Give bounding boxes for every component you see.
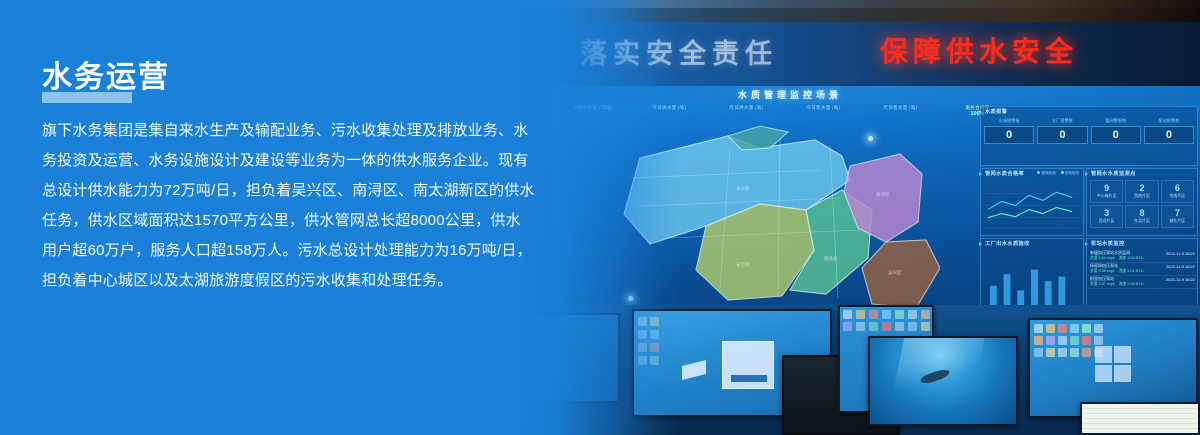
chevron-right-icon	[979, 172, 982, 176]
app-icon[interactable]	[908, 310, 917, 319]
alarm-kpi: 管网警报数 0	[1091, 118, 1141, 144]
rate-chart-card: 管网水质合格率 现场检测 实验检测	[980, 168, 1084, 236]
map-marker	[868, 136, 873, 141]
zone-cell: 6 东南片区	[1161, 180, 1194, 203]
app-icon[interactable]	[895, 322, 904, 331]
zone-value: 9	[1091, 183, 1122, 193]
kpi-label: 管网警报数	[1091, 118, 1141, 124]
alarm-kpi: 水源地警报 0	[984, 118, 1034, 144]
app-icon[interactable]	[1094, 324, 1103, 333]
page-title: 水务运营	[42, 52, 170, 96]
card-header: 水质报警	[985, 108, 1007, 115]
underwater-wallpaper	[870, 338, 1016, 424]
alarm-kpi: 泵站报警数 0	[1144, 118, 1194, 144]
kpi-value: 0	[1144, 126, 1194, 144]
stat-label: 昨日供水量 (吨)	[710, 105, 783, 111]
paragraph-line: 任务，供水区域面积达1570平方公里，供水管网总长超8000公里，供水	[42, 206, 587, 236]
app-icon[interactable]	[1034, 336, 1043, 345]
rate-line-chart	[984, 181, 1080, 232]
log-row: 杨家埠加压泵站 余氯 0.58 mg/L 浊度 1.01 NTU 2022-11…	[1087, 263, 1197, 276]
app-icon[interactable]	[1058, 324, 1067, 333]
app-icon[interactable]	[895, 310, 904, 319]
app-icon[interactable]	[869, 322, 878, 331]
card-header: 泵站水质监控	[1091, 240, 1125, 247]
zone-cell: 7 城东片区	[1161, 205, 1194, 228]
kpi-value: 0	[1037, 126, 1087, 144]
app-icon[interactable]	[1070, 336, 1079, 345]
app-icon[interactable]	[1082, 336, 1091, 345]
alarm-kpi-grid: 水源地警报 0 水厂报警数 0 管网警报数 0	[984, 118, 1194, 144]
log-time: 2022-11-9 18:22	[1166, 277, 1195, 282]
chart-legend: 现场检测 实验检测	[1037, 171, 1079, 176]
zone-value: 3	[1091, 208, 1122, 218]
zone-label: 中心城片区	[1091, 193, 1122, 199]
zone-label: 城东片区	[1162, 218, 1193, 224]
app-icon[interactable]	[1034, 348, 1043, 357]
chevron-right-icon	[979, 242, 982, 246]
spreadsheet-monitor	[1080, 402, 1200, 435]
legend-item: 现场检测	[1037, 171, 1055, 176]
app-icon[interactable]	[921, 322, 930, 331]
map-label: 安吉县	[736, 261, 750, 268]
zone-grid: 9 中心城片区 2 西南片区 6 东南片区	[1090, 180, 1194, 228]
chevron-right-icon	[1085, 172, 1088, 176]
alarm-kpi: 水厂报警数 0	[1037, 118, 1087, 144]
log-time: 2022-11-9 18:22	[1166, 251, 1195, 256]
zone-cell: 3 西北片区	[1090, 205, 1123, 228]
light-beam	[894, 338, 985, 390]
stat-item: 昨日供水量 (吨)	[710, 105, 783, 111]
zone-value: 7	[1162, 208, 1193, 218]
alarm-card: 水质报警 水源地警报 0 水厂报警数 0	[980, 106, 1198, 166]
kpi-label: 水源地警报	[984, 118, 1034, 124]
paragraph-line: 担负着中心城区以及太湖旅游度假区的污水收集和处理任务。	[42, 266, 587, 296]
map-label: 长兴县	[736, 185, 750, 192]
slogan-right: 保障供水安全	[880, 30, 1078, 70]
app-icon[interactable]	[1034, 324, 1043, 333]
app-icon[interactable]	[1082, 348, 1091, 357]
log-row: 新塘加压泵站水质监测 余氯 0.64 mg/L 浊度 1.04 NTU 2022…	[1087, 250, 1197, 263]
paragraph-line: 用户超60万户，服务人口超158万人。污水总设计处理能力为16万吨/日，	[42, 236, 587, 266]
app-icon[interactable]	[1082, 324, 1091, 333]
kpi-label: 水厂报警数	[1037, 118, 1087, 124]
app-icon[interactable]	[882, 322, 891, 331]
app-icon[interactable]	[1046, 336, 1055, 345]
monitor-point-card: 管网水水质监测点 9 中心城片区 2 西南片区	[1086, 168, 1198, 236]
dialog-window[interactable]	[722, 341, 774, 389]
app-icon[interactable]	[1046, 324, 1055, 333]
log-time: 2022-11-9 18:22	[1166, 264, 1195, 269]
app-icon[interactable]	[1058, 336, 1067, 345]
app-icon[interactable]	[843, 310, 852, 319]
kpi-value: 0	[984, 126, 1034, 144]
desktop-monitor-diver	[868, 336, 1018, 426]
text-content: 水务运营 旗下水务集团是集自来水生产及输配业务、污水收集处理及排放业务、水 务投…	[0, 0, 620, 435]
app-icon[interactable]	[856, 310, 865, 319]
stat-label: 昨日售水量 (吨)	[864, 105, 937, 111]
stat-item: 今日售水量 (吨)	[787, 105, 860, 111]
hero-banner: 落实安全责任 保障供水安全 水质管理监控场景 年供水总量 (万吨) 今日供水量 …	[0, 0, 1200, 435]
title-underline	[42, 92, 132, 103]
kpi-label: 泵站报警数	[1144, 118, 1194, 124]
card-header: 管网水质合格率	[985, 170, 1024, 177]
app-icon[interactable]	[856, 322, 865, 331]
dialog-button[interactable]	[731, 375, 767, 382]
zone-cell: 8 东北片区	[1125, 205, 1158, 228]
app-icon[interactable]	[921, 310, 930, 319]
zone-value: 8	[1126, 208, 1157, 218]
app-icon[interactable]	[1070, 324, 1079, 333]
zone-label: 东北片区	[1126, 218, 1157, 224]
kpi-value: 0	[1091, 126, 1141, 144]
chevron-right-icon	[979, 110, 982, 114]
app-icon[interactable]	[1094, 336, 1103, 345]
map-label: 吴兴区	[888, 269, 902, 276]
paragraph-line: 务投资及运营、水务设施设计及建设等业务为一体的供水服务企业。现有	[42, 146, 587, 176]
map-label: 德清县	[824, 255, 838, 262]
zone-cell: 9 中心城片区	[1090, 180, 1123, 203]
windows-logo-icon	[1095, 346, 1131, 382]
app-icon[interactable]	[882, 310, 891, 319]
zone-label: 西北片区	[1091, 218, 1122, 224]
stat-label: 今日售水量 (吨)	[787, 105, 860, 111]
description-paragraph: 旗下水务集团是集自来水生产及输配业务、污水收集处理及排放业务、水 务投资及运营、…	[42, 116, 587, 296]
legend-item: 实验检测	[1061, 171, 1079, 176]
log-metrics: 余氯 0.57 mg/L 浊度 0.98 NTU	[1090, 282, 1143, 287]
stat-item: 昨日售水量 (吨)	[864, 105, 937, 111]
desktop-icon-grid	[1034, 324, 1104, 357]
app-icon[interactable]	[1046, 348, 1055, 357]
zone-cell: 2 西南片区	[1125, 180, 1158, 203]
card-header: 工厂出水水质验收	[985, 240, 1030, 247]
chevron-right-icon	[1085, 242, 1088, 246]
app-icon[interactable]	[843, 322, 852, 331]
zone-value: 6	[1162, 183, 1193, 193]
zone-label: 西南片区	[1126, 193, 1157, 199]
app-icon[interactable]	[869, 310, 878, 319]
map-label: 南浔区	[876, 191, 890, 198]
log-metrics: 余氯 0.64 mg/L 浊度 1.04 NTU	[1090, 256, 1143, 261]
app-icon[interactable]	[1058, 348, 1067, 357]
card-header: 管网水水质监测点	[1091, 170, 1136, 177]
app-icon[interactable]	[1070, 348, 1079, 357]
zone-value: 2	[1126, 183, 1157, 193]
paragraph-line: 总设计供水能力为72万吨/日，担负着吴兴区、南浔区、南太湖新区的供水	[42, 176, 587, 206]
desktop-icon-grid	[843, 310, 932, 331]
paragraph-line: 旗下水务集团是集自来水生产及输配业务、污水收集处理及排放业务、水	[42, 116, 587, 146]
log-metrics: 余氯 0.58 mg/L 浊度 1.01 NTU	[1090, 269, 1143, 274]
zone-label: 东南片区	[1162, 193, 1193, 199]
log-row: 织里加压泵站 余氯 0.57 mg/L 浊度 0.98 NTU 2022-11-…	[1087, 276, 1197, 289]
dashboard-right-panel: 水质报警 水源地警报 0 水厂报警数 0	[980, 106, 1198, 320]
app-icon[interactable]	[908, 322, 917, 331]
